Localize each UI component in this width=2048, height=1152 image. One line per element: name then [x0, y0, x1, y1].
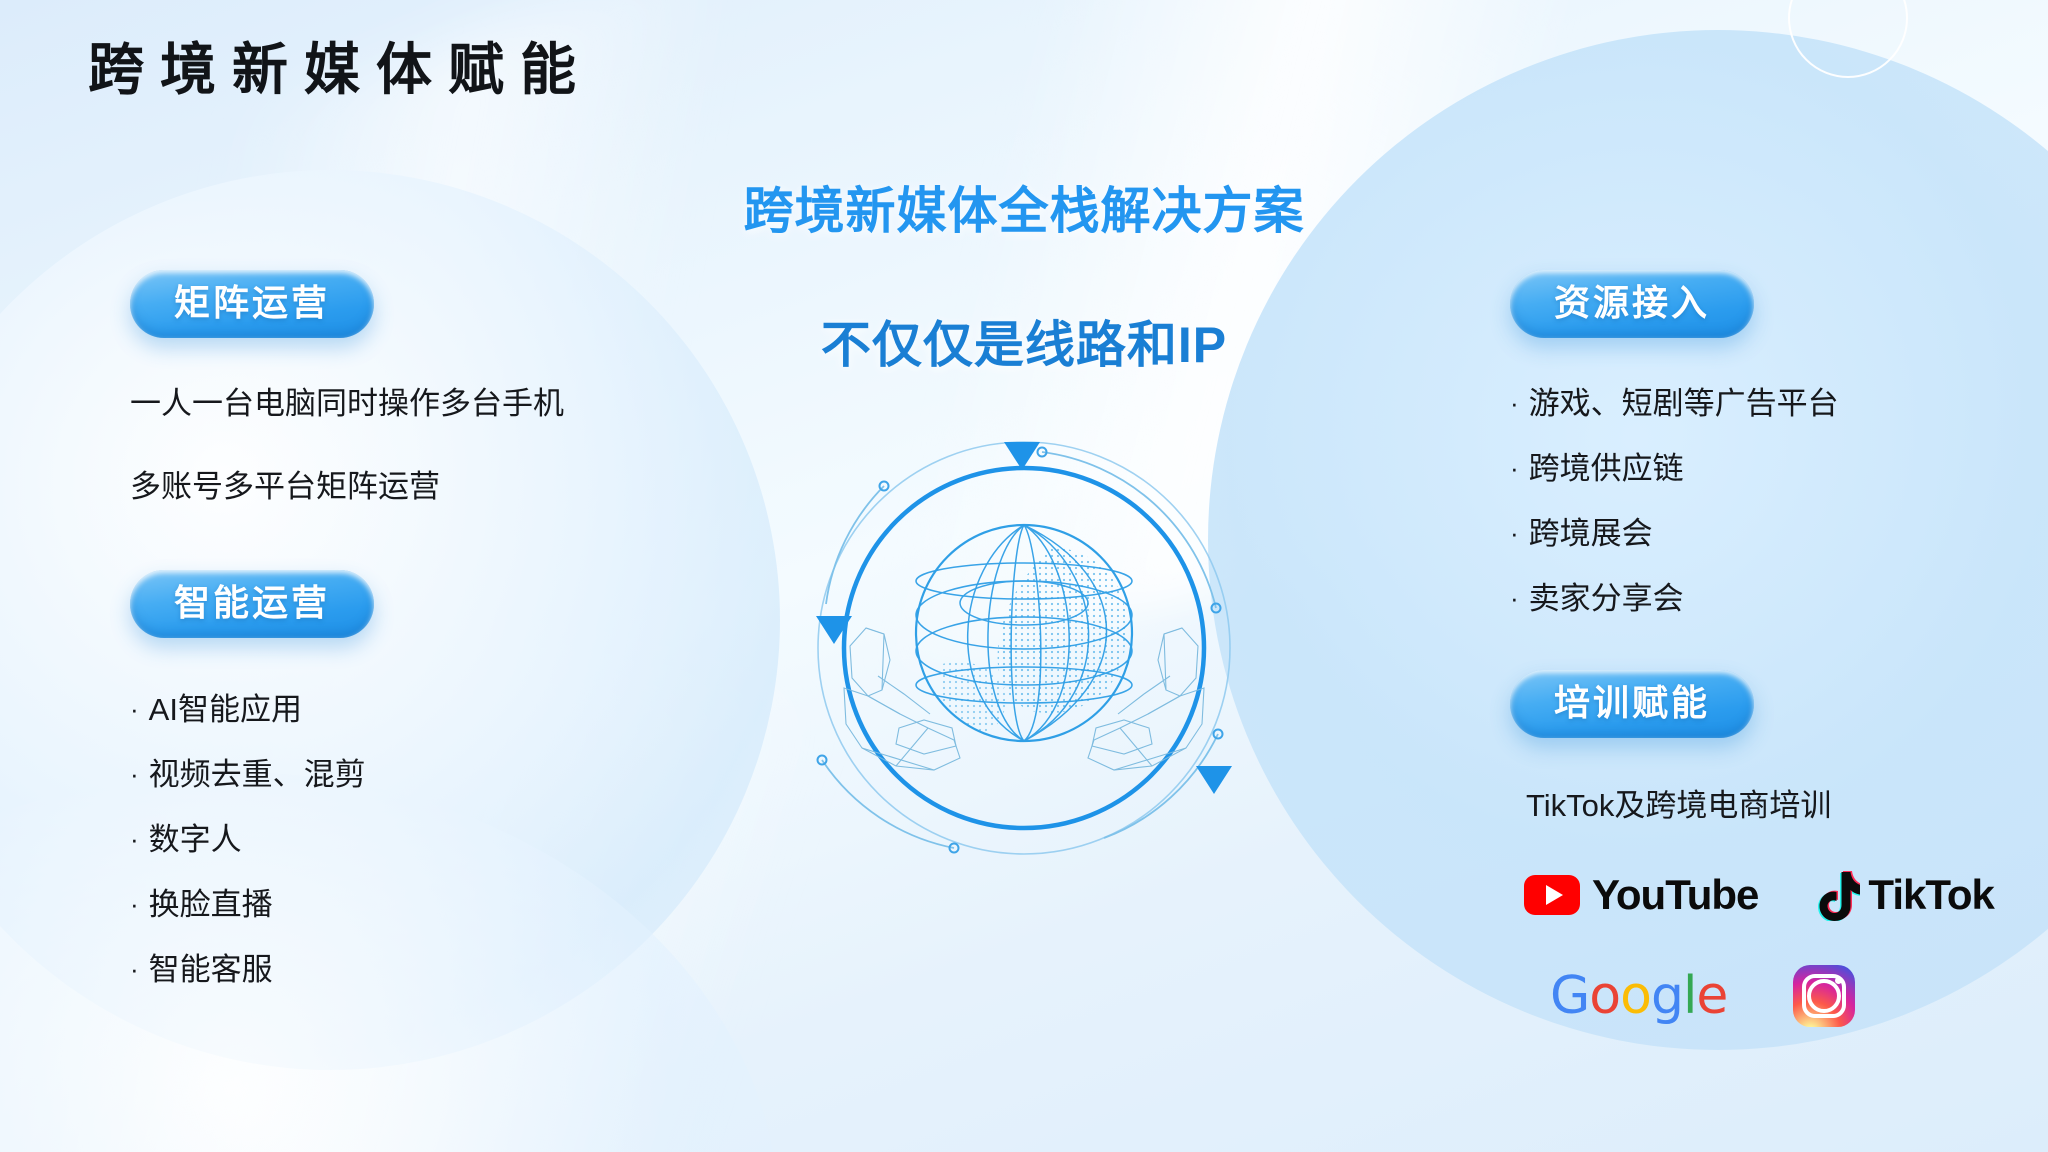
- section-matrix-operations: 矩阵运营 一人一台电脑同时操作多台手机 多账号多平台矩阵运营: [130, 270, 690, 502]
- decorative-ring-icon: [1788, 0, 1908, 78]
- left-line-1: 一人一台电脑同时操作多台手机: [130, 388, 690, 419]
- center-heading-secondary: 不仅仅是线路和IP: [821, 320, 1227, 370]
- badge-smart-operations[interactable]: 智能运营: [130, 570, 374, 638]
- list-item: ·跨境展会: [1510, 518, 2030, 549]
- instagram-logo[interactable]: [1793, 965, 1855, 1027]
- section-smart-operations: 智能运营 ·AI智能应用 ·视频去重、混剪 ·数字人 ·换脸直播 ·智能客服: [130, 570, 690, 985]
- list-item: ·卖家分享会: [1510, 583, 2030, 614]
- logo-row-bottom: Google: [1510, 965, 2030, 1027]
- list-item-label: 视频去重、混剪: [149, 757, 366, 792]
- youtube-logo[interactable]: YouTube: [1524, 871, 1758, 919]
- list-item-label: 跨境供应链: [1529, 451, 1684, 486]
- list-item: ·数字人: [130, 824, 690, 855]
- list-item-label: 卖家分享会: [1529, 581, 1684, 616]
- left-column: 矩阵运营 一人一台电脑同时操作多台手机 多账号多平台矩阵运营 智能运营 ·AI智…: [130, 270, 690, 985]
- badge-matrix-operations[interactable]: 矩阵运营: [130, 270, 374, 338]
- globe-icon: [804, 428, 1244, 868]
- center-heading-primary: 跨境新媒体全栈解决方案: [744, 186, 1305, 236]
- list-item: ·视频去重、混剪: [130, 759, 690, 790]
- tiktok-logo[interactable]: TikTok: [1814, 869, 1993, 921]
- list-item: ·换脸直播: [130, 889, 690, 920]
- bullet-dot-icon: ·: [130, 889, 139, 919]
- bullet-dot-icon: ·: [130, 759, 139, 789]
- logo-row-top: YouTube TikTok: [1510, 869, 2030, 921]
- list-item-label: 换脸直播: [149, 887, 273, 922]
- page-title: 跨境新媒体赋能: [88, 42, 592, 98]
- youtube-label: YouTube: [1592, 871, 1758, 919]
- globe-in-hands-illustration: [804, 428, 1244, 868]
- bullet-dot-icon: ·: [1510, 388, 1519, 418]
- tiktok-note-icon: [1814, 869, 1860, 921]
- list-item-label: 游戏、短剧等广告平台: [1529, 386, 1839, 421]
- list-item: ·游戏、短剧等广告平台: [1510, 388, 2030, 419]
- instagram-lens-icon: [1807, 979, 1841, 1013]
- bullet-dot-icon: ·: [130, 954, 139, 984]
- bullet-dot-icon: ·: [130, 694, 139, 724]
- list-item: ·智能客服: [130, 954, 690, 985]
- badge-training-empowerment[interactable]: 培训赋能: [1510, 670, 1754, 738]
- section-resource-access: 资源接入 ·游戏、短剧等广告平台 ·跨境供应链 ·跨境展会 ·卖家分享会: [1510, 270, 2030, 614]
- list-item: ·AI智能应用: [130, 694, 690, 725]
- slide-canvas: 跨境新媒体赋能 跨境新媒体全栈解决方案 不仅仅是线路和IP: [0, 0, 2048, 1152]
- list-item-label: 智能客服: [149, 952, 273, 987]
- right-column: 资源接入 ·游戏、短剧等广告平台 ·跨境供应链 ·跨境展会 ·卖家分享会 培训赋…: [1510, 270, 2030, 1027]
- google-logo[interactable]: Google: [1550, 966, 1727, 1026]
- badge-resource-access[interactable]: 资源接入: [1510, 270, 1754, 338]
- youtube-play-icon: [1524, 875, 1580, 915]
- bullet-dot-icon: ·: [130, 824, 139, 854]
- bullet-dot-icon: ·: [1510, 453, 1519, 483]
- list-item: ·跨境供应链: [1510, 453, 2030, 484]
- bullet-dot-icon: ·: [1510, 518, 1519, 548]
- list-item-label: AI智能应用: [149, 692, 302, 727]
- list-item-label: 数字人: [149, 822, 242, 857]
- list-item-label: 跨境展会: [1529, 516, 1653, 551]
- tiktok-label: TikTok: [1868, 871, 1993, 919]
- section-training-empowerment: 培训赋能 TikTok及跨境电商培训: [1510, 670, 2030, 821]
- bullet-dot-icon: ·: [1510, 583, 1519, 613]
- left-line-2: 多账号多平台矩阵运营: [130, 471, 690, 502]
- training-description: TikTok及跨境电商培训: [1510, 790, 2030, 821]
